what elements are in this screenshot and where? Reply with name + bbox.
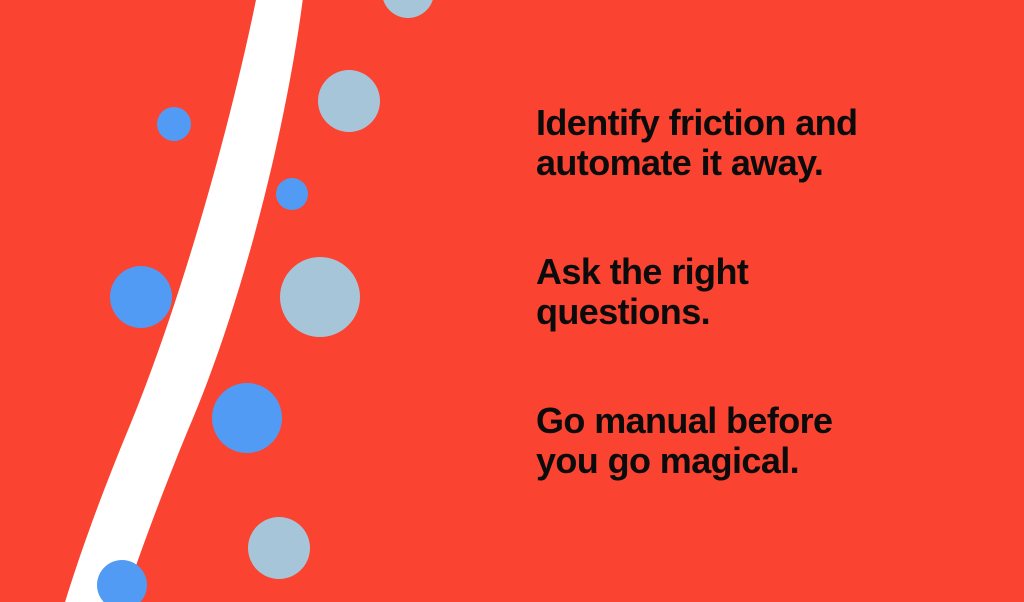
presentation-slide: Identify friction and automate it away. … (0, 0, 1024, 602)
statement-identify-friction: Identify friction and automate it away. (536, 103, 966, 183)
statement-ask-right-questions: Ask the right questions. (536, 252, 966, 332)
blue-circle-medium-left (110, 266, 172, 328)
blue-circle-small-mid (276, 178, 308, 210)
gray-circle-upper (318, 70, 380, 132)
statements-column: Identify friction and automate it away. … (536, 0, 976, 602)
gray-circle-bottom (248, 517, 310, 579)
statement-go-manual: Go manual before you go magical. (536, 401, 966, 481)
white-curved-band (62, 0, 304, 602)
gray-blob-center (280, 257, 360, 337)
blue-circle-small-upper-left (157, 107, 191, 141)
blue-circle-large-lower (212, 383, 282, 453)
gray-circle-top-edge (382, 0, 434, 18)
